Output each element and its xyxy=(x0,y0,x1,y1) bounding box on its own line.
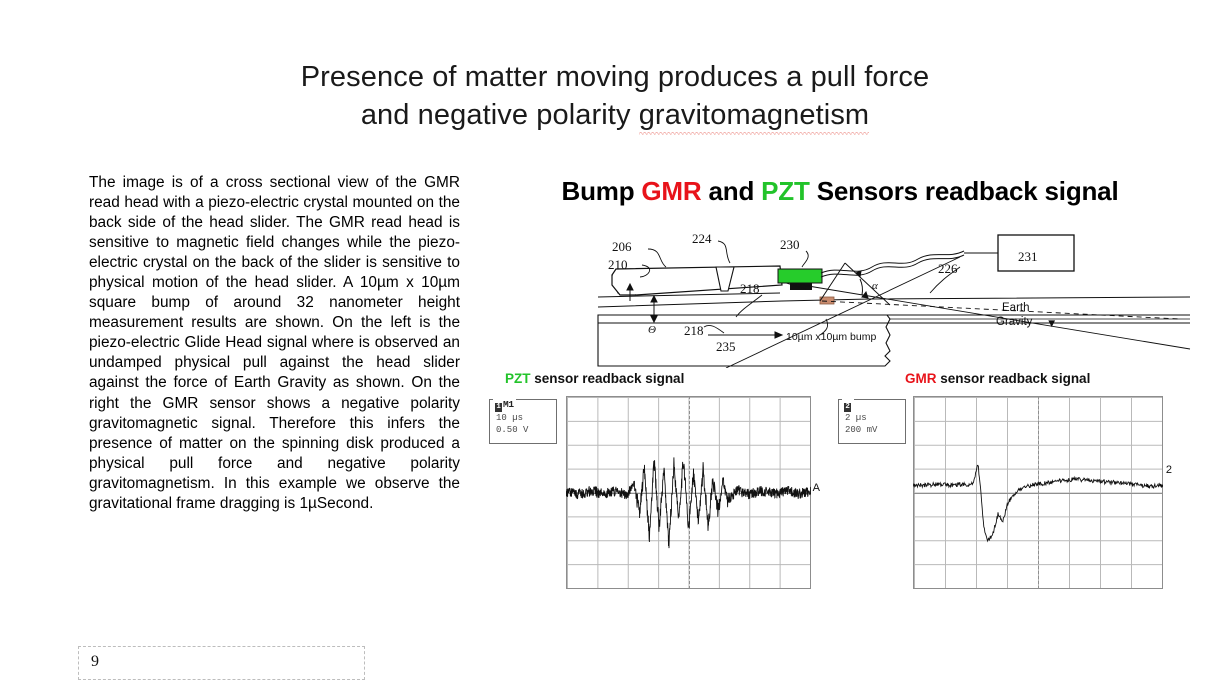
label-224: 224 xyxy=(692,231,712,246)
voltscale-gmr: 200 mV xyxy=(845,424,905,436)
heading-word-gmr: GMR xyxy=(641,176,701,206)
scope-edge-marker-pzt: A xyxy=(813,482,820,494)
label-218-upper: 218 xyxy=(740,281,760,296)
scope-caption-pzt: PZT sensor readback signal xyxy=(505,371,684,386)
channel-marker-icon: 2 xyxy=(844,403,851,412)
caption-tag-pzt: PZT xyxy=(505,371,531,386)
lead-wire xyxy=(821,251,998,277)
caption-text-gmr: sensor readback signal xyxy=(937,371,1091,386)
scope-trace-pzt xyxy=(566,396,811,589)
label-206: 206 xyxy=(612,239,632,254)
earth-gravity-line1: Earth xyxy=(1002,302,1030,314)
caption-tag-gmr: GMR xyxy=(905,371,937,386)
scope-readout-gmr: 2 2 µs 200 mV xyxy=(838,399,906,444)
scope-caption-gmr: GMR sensor readback signal xyxy=(905,371,1090,386)
earth-gravity-arrow-icon: ▼ xyxy=(1046,318,1057,330)
title-misspelled-word: gravitomagnetism xyxy=(639,96,869,134)
oscilloscope-pzt: A xyxy=(566,396,811,589)
cross-section-diagram: 206 210 224 230 231 218 218 226 235 Θ α … xyxy=(490,223,1200,368)
timebase-pzt: 10 µs xyxy=(496,412,556,424)
heading-word-pzt: PZT xyxy=(761,176,810,206)
page-number-placeholder[interactable]: 9 xyxy=(78,646,365,680)
label-alpha: α xyxy=(872,280,878,292)
label-theta: Θ xyxy=(648,324,656,336)
pzt-crystal xyxy=(778,269,822,283)
title-line-1: Presence of matter moving produces a pul… xyxy=(150,58,1080,96)
label-bump-dimension: 10µm x10µm bump xyxy=(786,331,876,343)
label-226: 226 xyxy=(938,261,958,276)
theta-indicator xyxy=(651,296,657,322)
heading-word-bump: Bump xyxy=(562,176,635,206)
earth-gravity-line2: Gravity xyxy=(996,316,1033,328)
figure-heading: Bump GMR and PZT Sensors readback signal xyxy=(486,176,1194,207)
channel-marker-icon: 1 xyxy=(495,403,502,412)
scope-readout-pzt: 1M1 10 µs 0.50 V xyxy=(489,399,557,444)
caption-text-pzt: sensor readback signal xyxy=(531,371,685,386)
voltscale-pzt: 0.50 V xyxy=(496,424,556,436)
body-text-block: The image is of a cross sectional view o… xyxy=(89,173,460,514)
timebase-gmr: 2 µs xyxy=(845,412,905,424)
scope-channel-pzt: 1M1 xyxy=(493,399,516,412)
label-210: 210 xyxy=(608,257,628,272)
heading-word-and: and xyxy=(709,176,755,206)
body-paragraph: The image is of a cross sectional view o… xyxy=(89,173,460,514)
label-231: 231 xyxy=(1018,249,1038,264)
page-title: Presence of matter moving produces a pul… xyxy=(150,58,1080,134)
disk-surface-line xyxy=(598,297,1190,307)
figure-panel: Bump GMR and PZT Sensors readback signal xyxy=(480,168,1200,618)
scope-channel-gmr: 2 xyxy=(842,399,854,412)
label-235: 235 xyxy=(716,339,736,354)
title-line-2: and negative polarity gravitomagnetism xyxy=(150,96,1080,134)
scope-edge-marker-gmr: 2 xyxy=(1166,464,1172,476)
scope-trace-gmr xyxy=(913,396,1163,589)
title-line-2-text: and negative polarity xyxy=(361,99,639,131)
oscilloscope-gmr: 2 xyxy=(913,396,1163,589)
label-230: 230 xyxy=(780,237,800,252)
page-number: 9 xyxy=(91,653,99,671)
label-218-lower: 218 xyxy=(684,323,704,338)
heading-word-tail: Sensors readback signal xyxy=(817,176,1119,206)
